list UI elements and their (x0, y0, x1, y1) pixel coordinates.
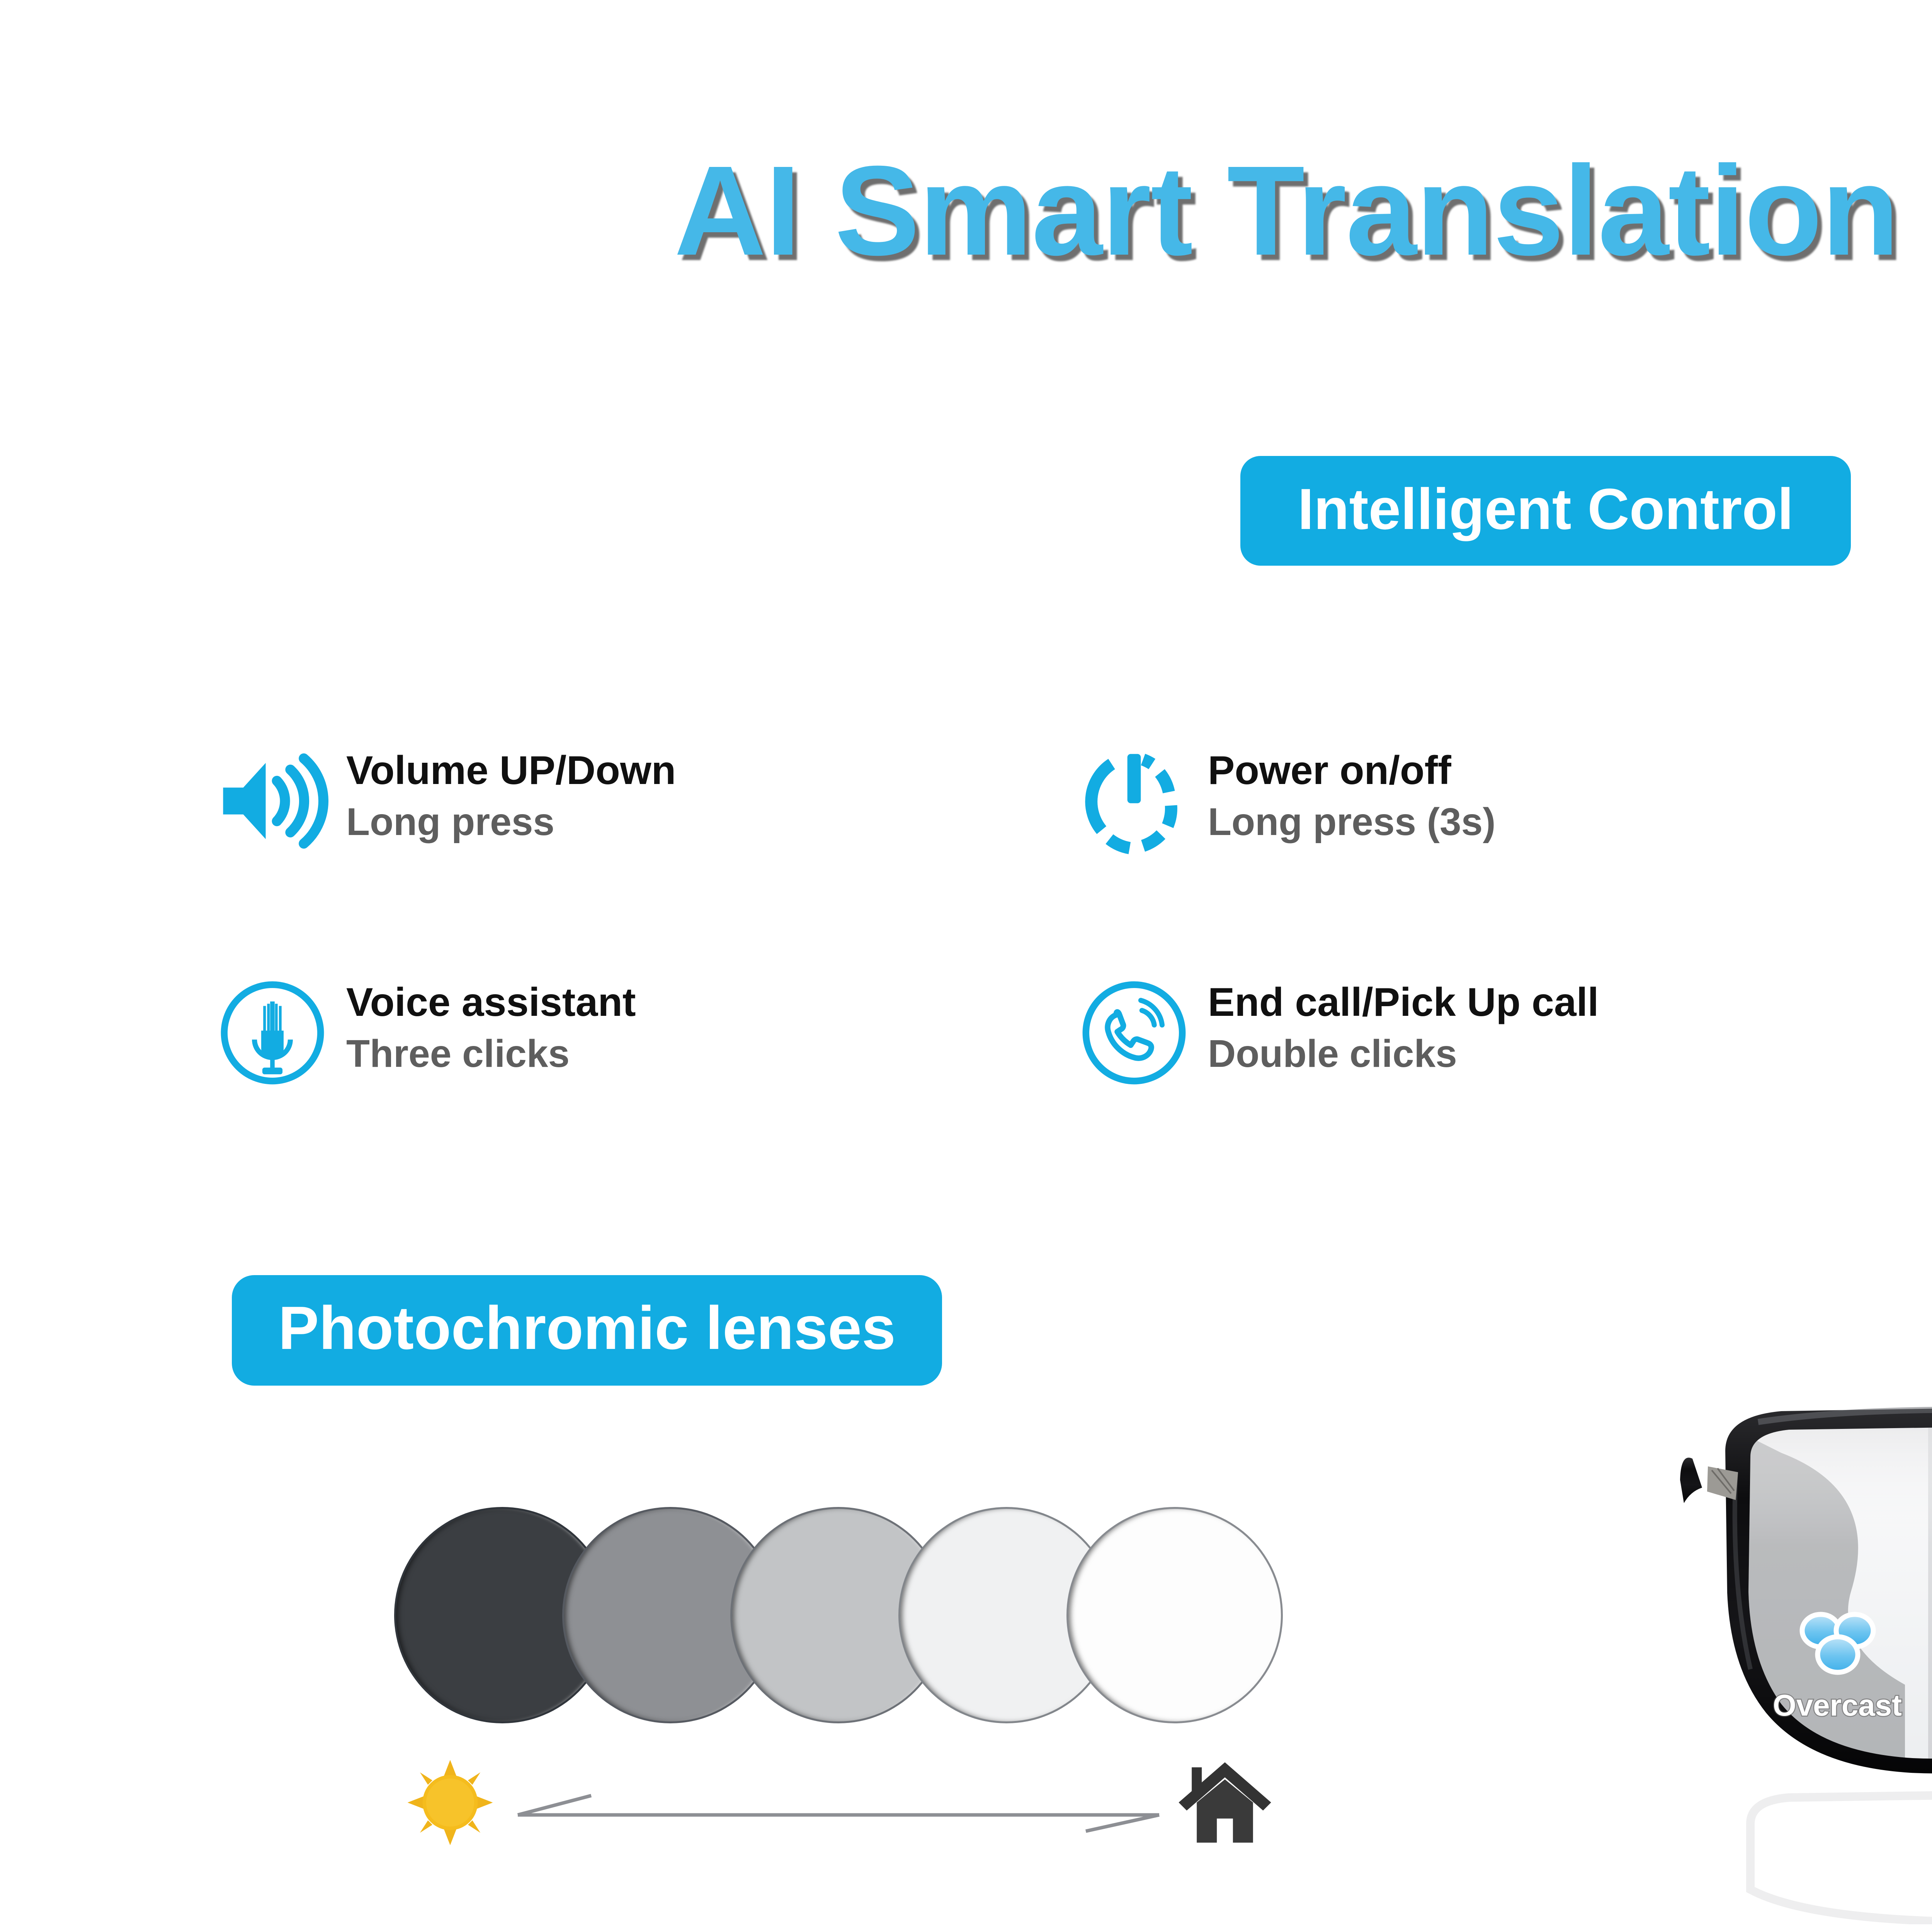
feature-item-power: Power on/off Long press (3s) (1078, 742, 1932, 974)
feature-subtitle: Double clicks (1208, 1032, 1599, 1075)
page-title-container: AI Smart Translation Glasses (0, 147, 1932, 274)
photochromic-banner-container: Photochromic lenses (232, 1275, 942, 1386)
glasses-product-photo: Overcast Cloudy (1634, 1376, 1932, 1924)
intelligent-control-banner: Intelligent Control (1240, 456, 1850, 566)
feature-subtitle: Long press (346, 801, 676, 843)
page-title: AI Smart Translation Glasses (0, 147, 1932, 274)
house-icon (1175, 1754, 1275, 1851)
double-headed-arrow-icon (510, 1791, 1167, 1833)
feature-text-volume: Volume UP/Down Long press (346, 742, 676, 843)
feature-subtitle: Long press (3s) (1208, 801, 1496, 843)
phone-waves-icon (1078, 977, 1190, 1089)
feature-title: Power on/off (1208, 749, 1496, 792)
photochromic-scale-row (394, 1754, 1291, 1870)
feature-title: Voice assistant (346, 981, 636, 1024)
microphone-icon (216, 977, 328, 1089)
feature-title: Volume UP/Down (346, 749, 676, 792)
feature-title: End call/Pick Up call (1208, 981, 1599, 1024)
photochromic-lenses-banner: Photochromic lenses (232, 1275, 942, 1386)
glasses-reflection (1750, 1794, 1932, 1922)
feature-item-voice-assistant: Voice assistant Three clicks (216, 974, 1078, 1206)
feature-item-end-call: End call/Pick Up call Double clicks (1078, 974, 1932, 1206)
lens-shade-row (394, 1507, 1283, 1723)
feature-grid: Volume UP/Down Long press Power on/off L… (216, 742, 1932, 1206)
feature-text-voice-assistant: Voice assistant Three clicks (346, 974, 636, 1075)
lens-disc-clear (1066, 1507, 1283, 1723)
feature-text-end-call: End call/Pick Up call Double clicks (1208, 974, 1599, 1075)
feature-item-volume: Volume UP/Down Long press (216, 742, 1078, 974)
feature-text-power: Power on/off Long press (3s) (1208, 742, 1496, 843)
left-lens-zones (1743, 1418, 1932, 1777)
lens-label-overcast: Overcast (1773, 1688, 1902, 1722)
feature-subtitle: Three clicks (346, 1032, 636, 1075)
intelligent-control-banner-container: Intelligent Control (0, 456, 1932, 566)
power-icon (1078, 745, 1190, 857)
volume-icon (216, 745, 328, 857)
sun-icon (406, 1758, 495, 1847)
